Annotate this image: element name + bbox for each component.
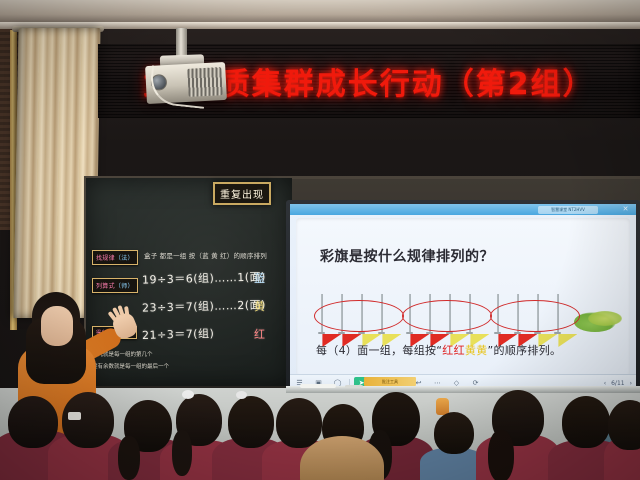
flag-base	[494, 332, 501, 335]
teacher-face	[41, 306, 73, 346]
student-head	[608, 400, 640, 450]
card-label: 列算式	[96, 283, 115, 290]
student-head	[562, 396, 610, 448]
student-ponytail	[172, 430, 192, 476]
close-icon[interactable]: ✕	[621, 205, 630, 214]
student-head	[276, 398, 322, 448]
flag-base	[466, 332, 473, 335]
hair-tie-icon	[182, 390, 194, 399]
student-head	[62, 392, 114, 448]
bush-shape-2	[588, 311, 622, 326]
hair-tie-icon	[236, 391, 247, 399]
flag-base	[514, 332, 521, 335]
student-head	[434, 412, 474, 454]
board-card-find-pattern: 找规律（法）	[92, 250, 138, 265]
group-circle-2	[402, 300, 492, 332]
board-header-line: 盒子 都是一组 按（蓝 黄 红）的顺序排列	[144, 250, 267, 260]
board-card-write-equation: 列算式（师）	[92, 278, 138, 293]
flag-illustration	[312, 280, 622, 334]
flag-base	[426, 332, 433, 335]
student-head	[8, 396, 58, 448]
board-equation-2: 23÷3＝7(组)……2(面)	[142, 296, 266, 315]
slide-bottom-red: 红红	[442, 344, 465, 357]
group-circle-1	[314, 300, 404, 332]
student-ponytail	[118, 436, 140, 480]
flag-base	[378, 332, 385, 335]
board-color-word-red: 红	[254, 326, 265, 342]
flag-base	[338, 332, 345, 335]
smartboard-screen[interactable]: 智慧课堂 NT2HVV ✕ 彩旗是按什么规律排列的？	[290, 204, 636, 380]
student-group	[0, 378, 640, 480]
card-label: 找规律	[96, 255, 115, 262]
slide-bottom-prefix: 每（4）面一组，每组按“	[316, 344, 442, 357]
board-card-repeat: 重复出现	[213, 182, 271, 205]
classroom-scene: 武 优质集群成长行动（第2组） 找规律（法） 列算式（师） 得出结论（定） 盒子…	[0, 0, 640, 480]
slide-bottom-text: 每（4）面一组，每组按“红红黄黄”的顺序排列。	[316, 342, 561, 358]
student-head	[228, 396, 274, 448]
slide-title: 彩旗是按什么规律排列的？	[320, 246, 494, 266]
card-tag: （法）	[115, 255, 134, 262]
blackboard: 找规律（法） 列算式（师） 得出结论（定） 盒子 都是一组 按（蓝 黄 红）的顺…	[86, 178, 292, 386]
group-circle-3	[490, 300, 580, 332]
board-equation-1: 19÷3＝6(组)……1(面)	[142, 268, 266, 287]
slide-bottom-yellow: 黄黄	[465, 344, 488, 357]
board-color-word-blue: 蓝	[254, 270, 265, 286]
screen-titlebar: 智慧课堂 NT2HVV ✕	[290, 204, 636, 215]
student-ponytail	[488, 430, 514, 480]
board-color-word-yellow: 黄	[254, 298, 265, 314]
flag-base	[406, 332, 413, 335]
flag-base	[554, 332, 561, 335]
screen-window-tab[interactable]: 智慧课堂 NT2HVV	[538, 206, 598, 214]
board-equation-3: 21÷3＝7(组)	[142, 325, 215, 343]
card-tag: （师）	[115, 283, 134, 290]
flag-base	[318, 332, 325, 335]
slide-bottom-suffix: ”的顺序排列。	[488, 344, 562, 357]
hair-clip-icon	[68, 412, 81, 420]
projector-mount-pole	[176, 28, 187, 58]
slide-page: 彩旗是按什么规律排列的？	[296, 218, 630, 376]
